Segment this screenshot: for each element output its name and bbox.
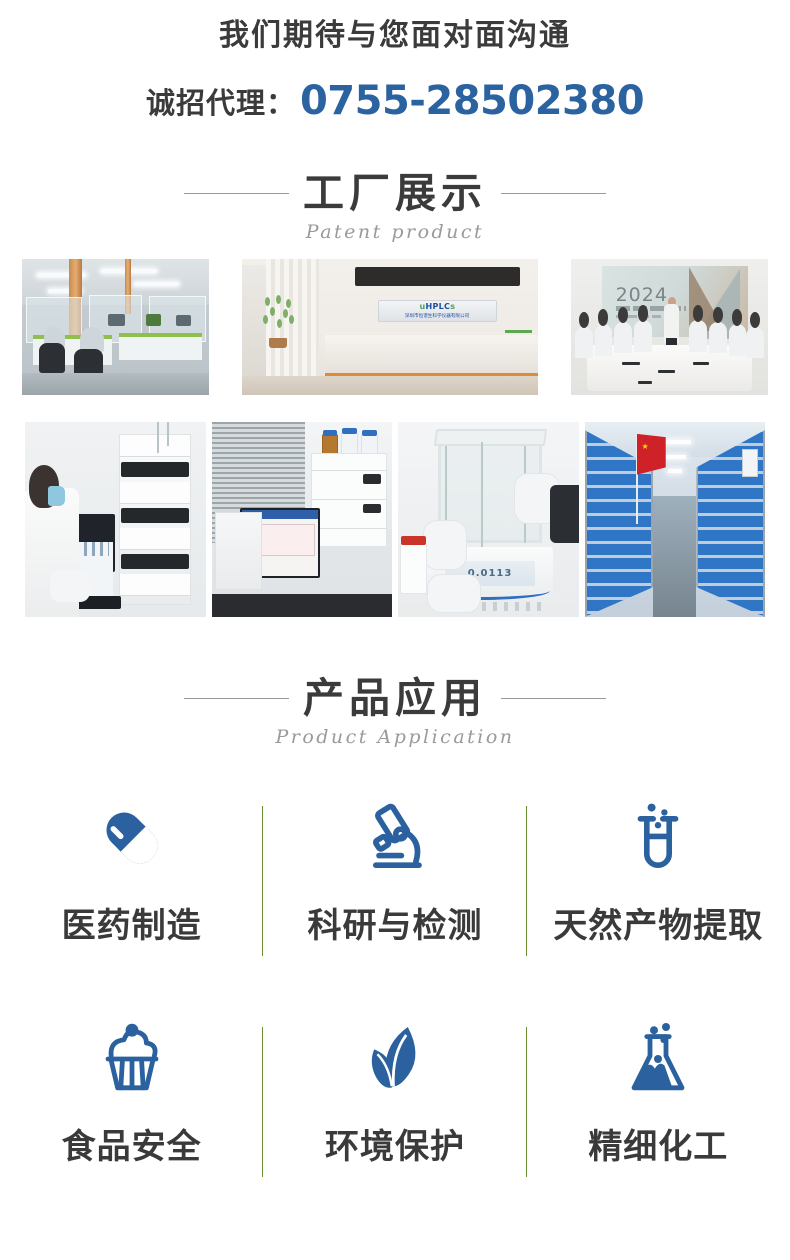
attendee [634, 320, 652, 351]
office-chair [39, 343, 65, 373]
monitor [108, 314, 125, 326]
photo-warehouse-storage-racks[interactable]: ★ [585, 422, 766, 617]
table-item [658, 370, 676, 373]
application-item-environment[interactable]: 环境保护 [263, 1013, 526, 1168]
section-title-cn: 产品应用 [289, 675, 501, 722]
attendee [595, 324, 613, 355]
table-item [693, 362, 709, 365]
chinese-flag: ★ [637, 434, 666, 475]
table-item [638, 381, 652, 384]
section-title-factory: 工厂展示 Patent product [0, 170, 790, 243]
gloved-forearm [427, 574, 481, 613]
application-label: 医药制造 [62, 898, 202, 947]
attendee [746, 327, 764, 358]
page-headline: 我们期待与您面对面沟通 [0, 0, 790, 52]
gloved-hand [423, 520, 466, 571]
title-rule-right [501, 698, 606, 699]
section-title-cn: 工厂展示 [289, 170, 501, 217]
attendee [575, 327, 593, 358]
company-name-cn: 深圳市恒谱生科学仪器有限公司 [405, 313, 469, 319]
hplc-modules [311, 453, 387, 547]
attendee [614, 322, 632, 353]
plant-pot [269, 338, 287, 348]
sample-jar [400, 543, 427, 594]
technician-arm [50, 570, 90, 601]
reception-counter [325, 335, 538, 376]
application-row-1: 医药制造 科研与检测 [0, 792, 790, 947]
application-label: 食品安全 [62, 1119, 202, 1168]
factory-photo-row-1: uuHPLCsHPLCs 深圳市恒谱生科学仪器有限公司 2024 [0, 259, 790, 395]
erlenmeyer-flask-icon [612, 1013, 704, 1105]
factory-photo-row-2: 0.0113 ★ [0, 422, 790, 617]
tubing [167, 422, 169, 445]
photo-technician-operating-hplc[interactable] [25, 422, 206, 617]
application-item-research[interactable]: 科研与检测 [263, 792, 526, 947]
slide-year: 2024 [616, 284, 668, 306]
floor [22, 373, 209, 395]
title-rule-right [501, 193, 606, 194]
dark-sleeve [550, 485, 579, 544]
application-label: 环境保护 [325, 1119, 465, 1168]
application-row-2: 食品安全 环境保护 [0, 1013, 790, 1168]
application-label: 天然产物提取 [553, 898, 763, 947]
section-subtitle-en: Patent product [0, 221, 790, 243]
microscope-icon [349, 792, 441, 884]
application-item-fine-chemicals[interactable]: 精细化工 [527, 1013, 790, 1168]
section-title-application: 产品应用 Product Application [0, 675, 790, 748]
dark-wall-band [355, 267, 521, 286]
monitor [176, 315, 191, 326]
application-icon-grid: 医药制造 科研与检测 [0, 792, 790, 1168]
title-rule-left [184, 698, 289, 699]
light-tube [666, 455, 686, 459]
company-logo-text: uuHPLCsHPLCs [419, 302, 455, 311]
tubing [157, 422, 159, 453]
agent-label: 诚招代理： [146, 86, 296, 120]
attendee [689, 320, 707, 351]
monitor [146, 314, 161, 326]
shield-top-plate [434, 429, 547, 446]
photo-meeting-room-presentation[interactable]: 2024 [571, 259, 768, 395]
rack-label-sign [742, 449, 758, 476]
attendee [729, 324, 747, 355]
photo-company-reception[interactable]: uuHPLCsHPLCs 深圳市恒谱生科学仪器有限公司 [242, 259, 538, 395]
cabinet [215, 512, 262, 590]
light-tube [668, 469, 682, 473]
attendee [709, 322, 727, 353]
photo-hplc-system-workstation[interactable] [212, 422, 393, 617]
desk-surface [212, 594, 393, 617]
cupcake-icon [86, 1013, 178, 1105]
face-mask [48, 486, 64, 506]
reception-signboard: uuHPLCsHPLCs 深圳市恒谱生科学仪器有限公司 [378, 300, 496, 322]
photo-analytical-balance-weighing[interactable]: 0.0113 [398, 422, 579, 617]
floor [242, 376, 538, 395]
title-row: 产品应用 [0, 675, 790, 722]
title-row: 工厂展示 [0, 170, 790, 217]
cubicle-desk [119, 333, 201, 360]
application-item-pharma[interactable]: 医药制造 [0, 792, 263, 947]
application-item-natural-extract[interactable]: 天然产物提取 [527, 792, 790, 947]
green-accent-line [505, 330, 532, 333]
capsule-pill-icon [86, 792, 178, 884]
leaf-icon [349, 1013, 441, 1105]
promo-page: 我们期待与您面对面沟通 诚招代理：0755-28502380 工厂展示 Pate… [0, 0, 790, 1260]
decorative-plant [260, 295, 307, 341]
agent-recruitment-line: 诚招代理：0755-28502380 [0, 52, 790, 124]
title-rule-left [184, 193, 289, 194]
application-label: 精细化工 [588, 1119, 728, 1168]
test-tube-icon [612, 792, 704, 884]
section-subtitle-en: Product Application [0, 726, 790, 748]
application-item-food-safety[interactable]: 食品安全 [0, 1013, 263, 1168]
contact-phone-number[interactable]: 0755-28502380 [300, 78, 644, 124]
photo-office-workstations[interactable] [22, 259, 209, 395]
hplc-instrument-stack [119, 434, 191, 606]
table-item [622, 362, 640, 365]
light-tube [134, 282, 179, 286]
application-label: 科研与检测 [307, 898, 482, 947]
aisle-floor [653, 496, 696, 617]
